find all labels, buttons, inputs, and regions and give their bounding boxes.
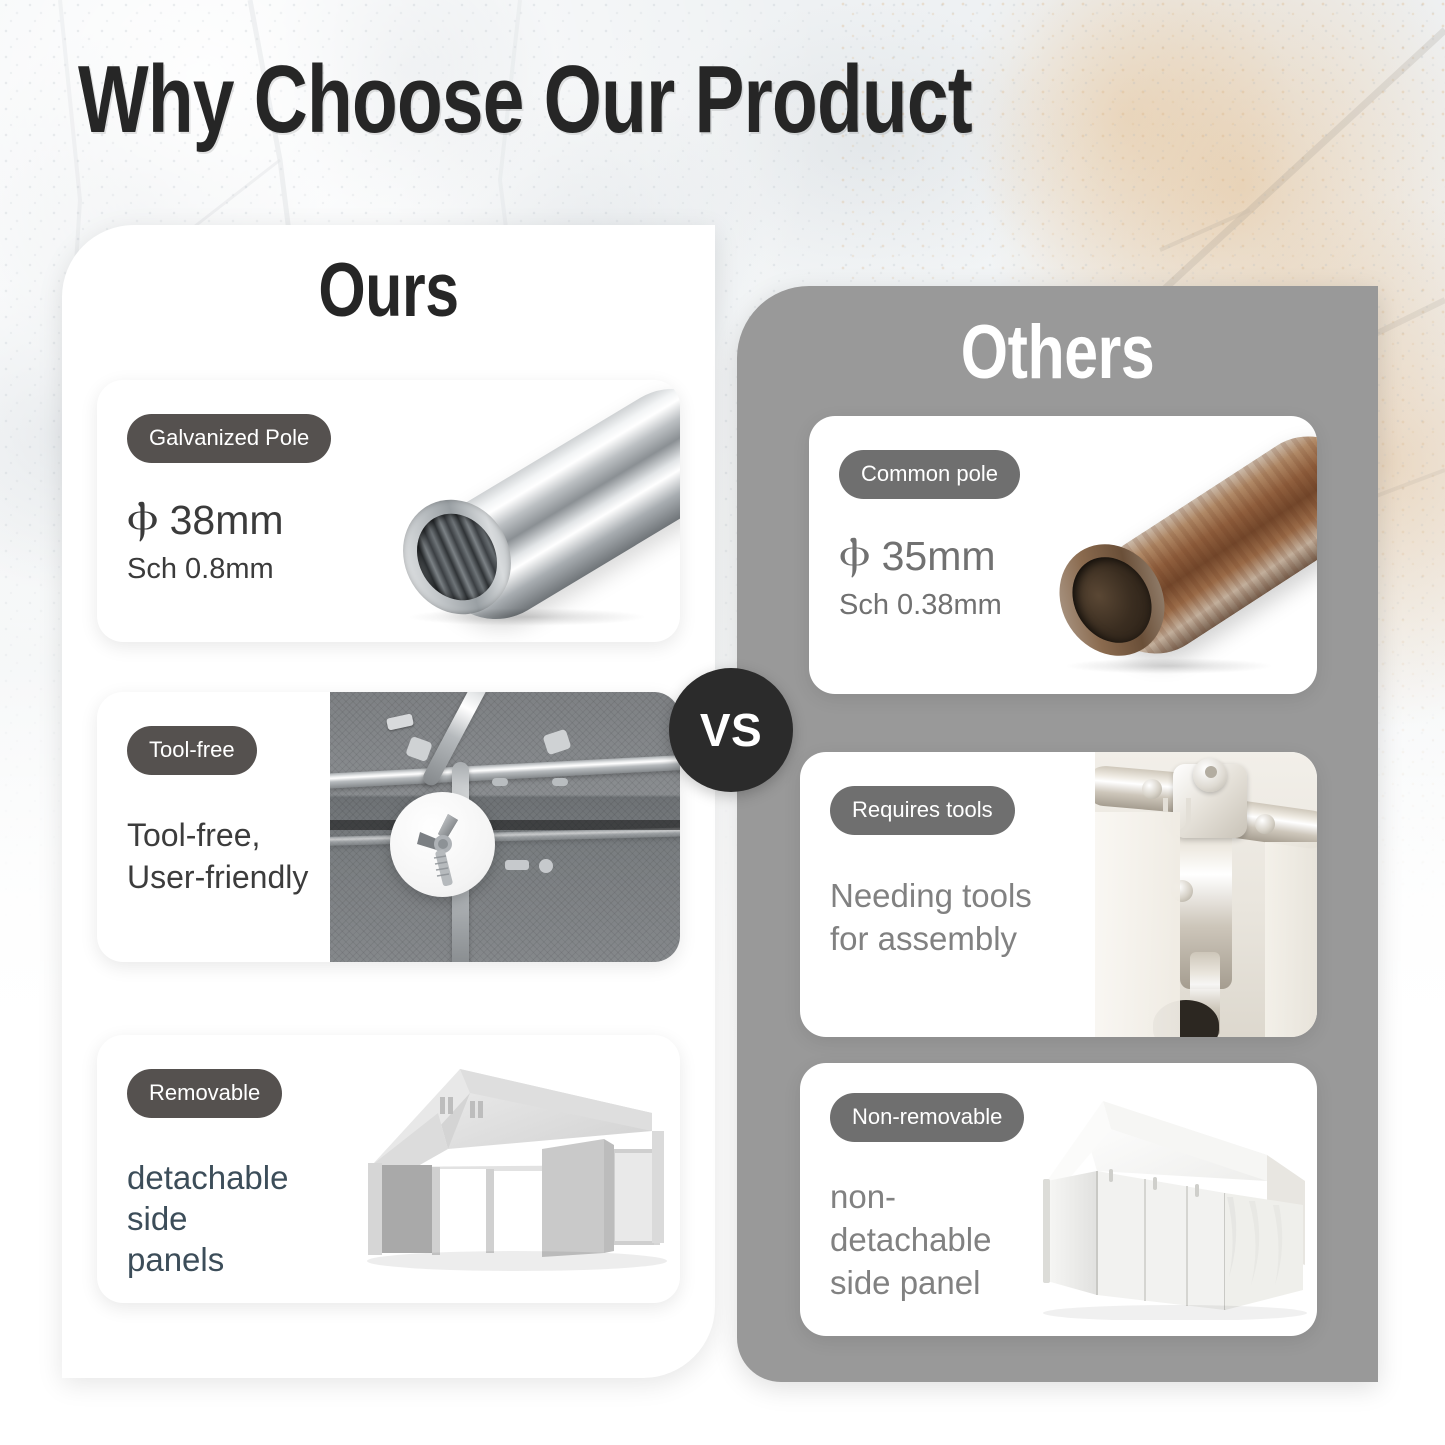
others-card-requires-tools[interactable]: Requires tools Needing tools for assembl… (800, 752, 1317, 1037)
gray-carport-tent-detachable-panels-photo (352, 1053, 680, 1285)
vs-badge: VS (669, 668, 793, 792)
ours-desc-removable: detachable side panels (127, 1158, 288, 1281)
ours-card-removable[interactable]: Removable detachable side panels (97, 1035, 680, 1303)
ours-card-tool-free[interactable]: Tool-free Tool-free, User-friendly (97, 692, 680, 962)
others-card-common-pole[interactable]: Common pole Ⲫ 35mm Sch 0.38mm (809, 416, 1317, 694)
ours-desc-line-2: User-friendly (127, 857, 308, 899)
others-card-3-body: Non-removable non- detachable side panel (830, 1093, 1024, 1305)
others-desc2-line-1: Needing tools (830, 875, 1032, 918)
ours-desc3-line-3: panels (127, 1240, 288, 1281)
ours-desc3-line-1: detachable (127, 1158, 288, 1199)
others-desc3-line-2: detachable (830, 1219, 1024, 1262)
bolted-pole-joint-photo (1095, 752, 1317, 1037)
gray-tent-illustration (352, 1053, 680, 1285)
ours-card-2-body: Tool-free Tool-free, User-friendly (127, 726, 308, 898)
others-spec-diameter: Ⲫ 35mm (839, 535, 1020, 578)
badge-tool-free: Tool-free (127, 726, 257, 775)
badge-common-pole: Common pole (839, 450, 1020, 499)
ours-card-3-body: Removable detachable side panels (127, 1069, 288, 1281)
wing-bolt-icon (390, 792, 495, 897)
others-desc3-line-1: non- (830, 1176, 1024, 1219)
ours-spec-thickness: Sch 0.8mm (127, 553, 331, 586)
badge-non-removable: Non-removable (830, 1093, 1024, 1142)
others-desc-requires-tools: Needing tools for assembly (830, 875, 1032, 961)
badge-galvanized-pole: Galvanized Pole (127, 414, 331, 463)
white-tent-illustration (1035, 1085, 1317, 1320)
canopy-frame-wing-bolt-photo (330, 692, 680, 962)
others-heading: Others (801, 309, 1314, 396)
badge-requires-tools: Requires tools (830, 786, 1015, 835)
ours-heading: Ours (127, 247, 649, 334)
rusty-common-pipe-photo (1044, 416, 1317, 694)
others-card-2-body: Requires tools Needing tools for assembl… (830, 786, 1032, 961)
wing-bolt-zoom-callout (390, 792, 495, 897)
white-carport-tent-fixed-panel-photo (1035, 1085, 1317, 1320)
page-title: Why Choose Our Product (78, 52, 972, 148)
ours-card-1-body: Galvanized Pole Ⲫ 38mm Sch 0.8mm (127, 414, 331, 586)
others-spec-thickness: Sch 0.38mm (839, 589, 1020, 622)
badge-removable: Removable (127, 1069, 282, 1118)
others-desc3-line-3: side panel (830, 1262, 1024, 1305)
ours-spec-diameter: Ⲫ 38mm (127, 499, 331, 542)
galvanized-steel-pipe-photo (377, 380, 680, 642)
others-desc2-line-2: for assembly (830, 918, 1032, 961)
ours-desc3-line-2: side (127, 1199, 288, 1240)
ours-desc-tool-free: Tool-free, User-friendly (127, 815, 308, 898)
ours-card-galvanized-pole[interactable]: Galvanized Pole Ⲫ 38mm Sch 0.8mm (97, 380, 680, 642)
others-desc-non-removable: non- detachable side panel (830, 1176, 1024, 1305)
others-card-1-body: Common pole Ⲫ 35mm Sch 0.38mm (839, 450, 1020, 622)
ours-desc-line-1: Tool-free, (127, 815, 308, 857)
others-card-non-removable[interactable]: Non-removable non- detachable side panel (800, 1063, 1317, 1336)
